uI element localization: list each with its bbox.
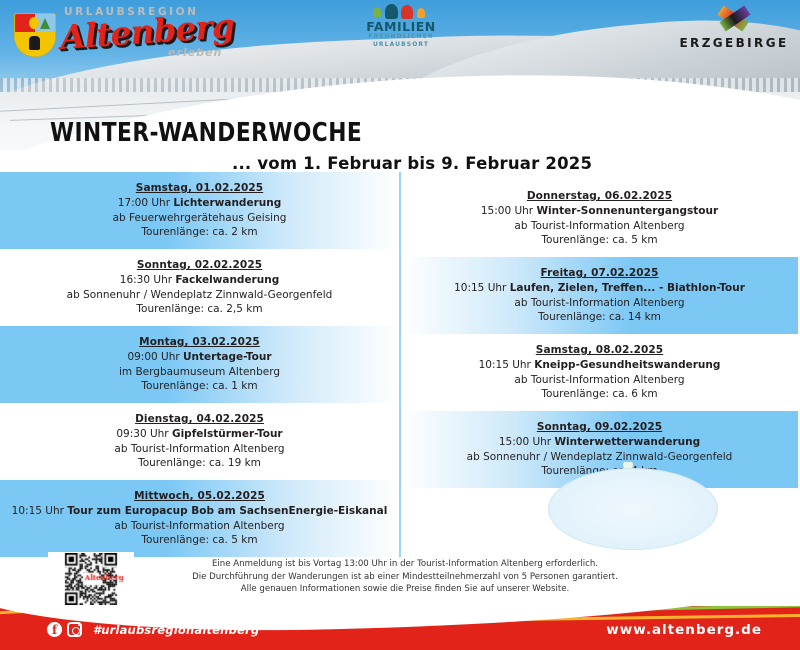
familien-title: FAMILIEN — [355, 20, 447, 33]
event-name: Untertage-Tour — [183, 351, 272, 363]
event-name: Winter-Sonnenuntergangstour — [536, 205, 718, 217]
event-length: Tourenlänge: ca. 2,5 km — [136, 302, 262, 317]
logo-urlaubsregion-altenberg[interactable]: URLAUBSREGION Altenberg erleben — [12, 4, 227, 60]
event-date: Freitag, 07.02.2025 — [541, 266, 659, 281]
event-date: Mittwoch, 05.02.2025 — [134, 489, 265, 504]
note-line-3: Alle genauen Informationen sowie die Pre… — [120, 583, 690, 596]
event-length: Tourenlänge: ca. 14 km — [538, 310, 661, 325]
event-name: Kneipp-Gesundheitswanderung — [534, 359, 720, 371]
note-line-1: Eine Anmeldung ist bis Vortag 13:00 Uhr … — [120, 558, 690, 571]
event-length: Tourenlänge: ca. 2 km — [141, 225, 257, 240]
event-time-and-name: 16:30 Uhr Fackelwanderung — [120, 273, 279, 288]
event-time: 10:15 Uhr — [479, 359, 535, 371]
poster: URLAUBSREGION Altenberg erleben FAMILIEN… — [0, 0, 800, 650]
event-date: Donnerstag, 06.02.2025 — [527, 189, 672, 204]
event-entry: Freitag, 07.02.202510:15 Uhr Laufen, Zie… — [401, 257, 798, 334]
social-links[interactable]: f #urlaubsregionaltenberg — [47, 622, 259, 637]
event-time-and-name: 10:15 Uhr Kneipp-Gesundheitswanderung — [479, 358, 721, 373]
event-time: 09:00 Uhr — [127, 351, 183, 363]
event-place: ab Tourist-Information Altenberg — [514, 373, 684, 388]
page-title: WINTER-WANDERWOCHE — [50, 118, 748, 148]
event-time: 09:30 Uhr — [116, 428, 172, 440]
registration-note: Eine Anmeldung ist bis Vortag 13:00 Uhr … — [120, 558, 690, 596]
social-hashtag[interactable]: #urlaubsregionaltenberg — [93, 623, 259, 637]
page-subtitle: ... vom 1. Februar bis 9. Februar 2025 — [232, 154, 800, 173]
event-name: Tour zum Europacup Bob am SachsenEnergie… — [67, 505, 387, 517]
event-date: Sonntag, 09.02.2025 — [537, 420, 662, 435]
event-date: Montag, 03.02.2025 — [139, 335, 260, 350]
erzgebirge-title: ERZGEBIRGE — [678, 36, 790, 50]
event-name: Fackelwanderung — [175, 274, 279, 286]
event-date: Samstag, 01.02.2025 — [136, 181, 263, 196]
logo-familienfreundlicher-urlaubsort[interactable]: FAMILIEN FREUNDLICHER URLAUBSORT — [355, 4, 447, 56]
event-time: 17:00 Uhr — [118, 197, 174, 209]
events-column-left: Samstag, 01.02.202517:00 Uhr Lichterwand… — [0, 172, 399, 557]
footer-bar: f #urlaubsregionaltenberg www.altenberg.… — [0, 606, 800, 650]
column-spacer — [401, 172, 798, 180]
familien-line3: URLAUBSORT — [355, 41, 447, 49]
event-entry: Sonntag, 02.02.202516:30 Uhr Fackelwande… — [0, 249, 399, 326]
event-entry: Dienstag, 04.02.202509:30 Uhr Gipfelstür… — [0, 403, 399, 480]
event-length: Tourenlänge: ca. 6 km — [541, 387, 657, 402]
event-entry: Samstag, 08.02.202510:15 Uhr Kneipp-Gesu… — [401, 334, 798, 411]
familien-line2: FREUNDLICHER — [355, 33, 447, 41]
event-entry: Montag, 03.02.202509:00 Uhr Untertage-To… — [0, 326, 399, 403]
event-time-and-name: 15:00 Uhr Winterwetterwanderung — [499, 435, 700, 450]
event-name: Laufen, Zielen, Treffen... - Biathlon-To… — [510, 282, 745, 294]
event-entry: Samstag, 01.02.202517:00 Uhr Lichterwand… — [0, 172, 399, 249]
event-place: ab Feuerwehrgerätehaus Geising — [113, 211, 287, 226]
note-line-2: Die Durchführung der Wanderungen ist ab … — [120, 571, 690, 584]
event-place: ab Tourist-Information Altenberg — [114, 519, 284, 534]
erzgebirge-mining-hammers-icon — [711, 4, 757, 34]
event-date: Samstag, 08.02.2025 — [536, 343, 663, 358]
event-entry: Donnerstag, 06.02.202515:00 Uhr Winter-S… — [401, 180, 798, 257]
event-place: ab Sonnenuhr / Wendeplatz Zinnwald-Georg… — [67, 288, 333, 303]
event-time-and-name: 10:15 Uhr Laufen, Zielen, Treffen... - B… — [454, 281, 745, 296]
event-time-and-name: 15:00 Uhr Winter-Sonnenuntergangstour — [481, 204, 718, 219]
event-date: Dienstag, 04.02.2025 — [135, 412, 264, 427]
event-length: Tourenlänge: ca. 1 km — [141, 379, 257, 394]
logo-sub-text: erleben — [168, 46, 222, 59]
website-url[interactable]: www.altenberg.de — [606, 622, 762, 638]
event-time: 10:15 Uhr — [12, 505, 68, 517]
event-time: 16:30 Uhr — [120, 274, 176, 286]
event-time: 15:00 Uhr — [481, 205, 537, 217]
event-time: 10:15 Uhr — [454, 282, 510, 294]
event-length: Tourenlänge: ca. 19 km — [138, 456, 261, 471]
event-place: ab Tourist-Information Altenberg — [114, 442, 284, 457]
altenberg-coat-of-arms-icon — [14, 13, 56, 57]
event-time-and-name: 10:15 Uhr Tour zum Europacup Bob am Sach… — [12, 504, 388, 519]
event-length: Tourenlänge: ca. 5 km — [541, 233, 657, 248]
event-name: Lichterwanderung — [173, 197, 281, 209]
event-place: ab Tourist-Information Altenberg — [514, 219, 684, 234]
family-figures-icon — [355, 4, 447, 20]
instagram-icon[interactable] — [67, 622, 82, 637]
event-time-and-name: 09:00 Uhr Untertage-Tour — [127, 350, 271, 365]
title-block: WINTER-WANDERWOCHE ... vom 1. Februar bi… — [0, 118, 800, 173]
event-place: ab Tourist-Information Altenberg — [514, 296, 684, 311]
event-date: Sonntag, 02.02.2025 — [137, 258, 262, 273]
event-time: 15:00 Uhr — [499, 436, 555, 448]
event-length: Tourenlänge: ca. 5 km — [141, 533, 257, 548]
logo-erzgebirge[interactable]: ERZGEBIRGE — [678, 4, 790, 58]
event-entry: Mittwoch, 05.02.202510:15 Uhr Tour zum E… — [0, 480, 399, 557]
event-place: im Bergbaumuseum Altenberg — [119, 365, 280, 380]
event-name: Winterwetterwanderung — [554, 436, 700, 448]
facebook-icon[interactable]: f — [47, 622, 62, 637]
event-time-and-name: 09:30 Uhr Gipfelstürmer-Tour — [116, 427, 282, 442]
winter-hiker-mascot — [538, 462, 728, 554]
event-name: Gipfelstürmer-Tour — [172, 428, 283, 440]
event-time-and-name: 17:00 Uhr Lichterwanderung — [118, 196, 281, 211]
